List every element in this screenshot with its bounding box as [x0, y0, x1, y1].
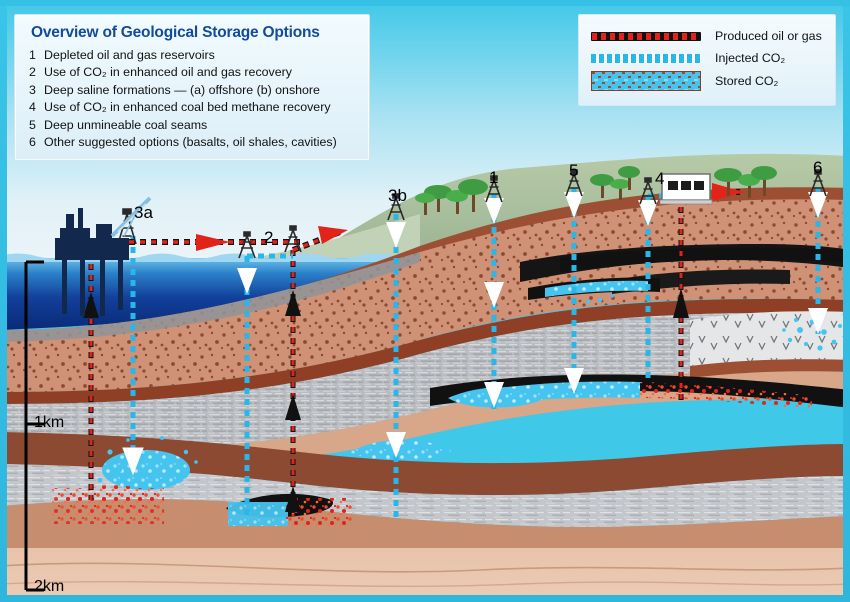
- list-item-label: Deep saline formations — (a) offshore (b…: [44, 82, 359, 98]
- stored-co2-swatch: [591, 71, 701, 91]
- co2-in-eor: [228, 502, 288, 526]
- legend-panel: Produced oil or gas Injected CO₂ Stored …: [578, 14, 836, 106]
- list-item-number: 2: [29, 64, 44, 80]
- geological-storage-diagram: 1km 2km 3a 2 3b 1 5 4 6 Overview of Geol…: [0, 0, 850, 602]
- basement-bed: [0, 548, 850, 602]
- legend-label: Stored CO₂: [715, 74, 778, 88]
- produced-oil-gas-swatch: [591, 32, 701, 41]
- list-item: 2 Use of CO₂ in enhanced oil and gas rec…: [29, 64, 359, 80]
- frame-top: [0, 0, 850, 6]
- list-item: 1 Depleted oil and gas reservoirs: [29, 47, 359, 63]
- legend-label: Produced oil or gas: [715, 29, 822, 43]
- oil-reservoir-left-fill: [52, 488, 164, 524]
- injected-co2-swatch: [591, 54, 701, 63]
- legend-item: Produced oil or gas: [591, 25, 823, 47]
- legend-label: Injected CO₂: [715, 51, 785, 65]
- list-item-number: 4: [29, 99, 44, 115]
- list-item-number: 6: [29, 134, 44, 150]
- scale-label-1km: 1km: [34, 414, 64, 432]
- list-item-number: 3: [29, 82, 44, 98]
- well-label-1: 1: [489, 168, 498, 188]
- basalt-layer: [690, 311, 850, 366]
- list-item-label: Use of CO₂ in enhanced oil and gas recov…: [44, 64, 359, 80]
- list-item-label: Other suggested options (basalts, oil sh…: [44, 134, 359, 150]
- list-item: 4 Use of CO₂ in enhanced coal bed methan…: [29, 99, 359, 115]
- frame-left: [0, 0, 7, 602]
- list-item-label: Use of CO₂ in enhanced coal bed methane …: [44, 99, 359, 115]
- list-item-number: 5: [29, 117, 44, 133]
- overview-info-panel: Overview of Geological Storage Options 1…: [14, 14, 370, 161]
- well-label-6: 6: [813, 158, 822, 178]
- well-label-2: 2: [264, 228, 273, 248]
- frame-bottom: [0, 595, 850, 602]
- frame-right: [843, 0, 850, 602]
- legend-item: Stored CO₂: [591, 69, 823, 93]
- facility-building: [660, 174, 712, 204]
- legend-item: Injected CO₂: [591, 47, 823, 69]
- list-item: 6 Other suggested options (basalts, oil …: [29, 134, 359, 150]
- scale-label-2km: 2km: [34, 578, 64, 596]
- well-label-5: 5: [569, 161, 578, 181]
- well-label-3b: 3b: [388, 186, 407, 206]
- list-item-number: 1: [29, 47, 44, 63]
- well-label-3a: 3a: [134, 203, 153, 223]
- list-item-label: Deep unmineable coal seams: [44, 117, 359, 133]
- page-title: Overview of Geological Storage Options: [31, 24, 359, 42]
- well-label-4: 4: [655, 169, 664, 189]
- stored-co2-3a: [102, 450, 190, 490]
- list-item-label: Depleted oil and gas reservoirs: [44, 47, 359, 63]
- list-item: 3 Deep saline formations — (a) offshore …: [29, 82, 359, 98]
- list-item: 5 Deep unmineable coal seams: [29, 117, 359, 133]
